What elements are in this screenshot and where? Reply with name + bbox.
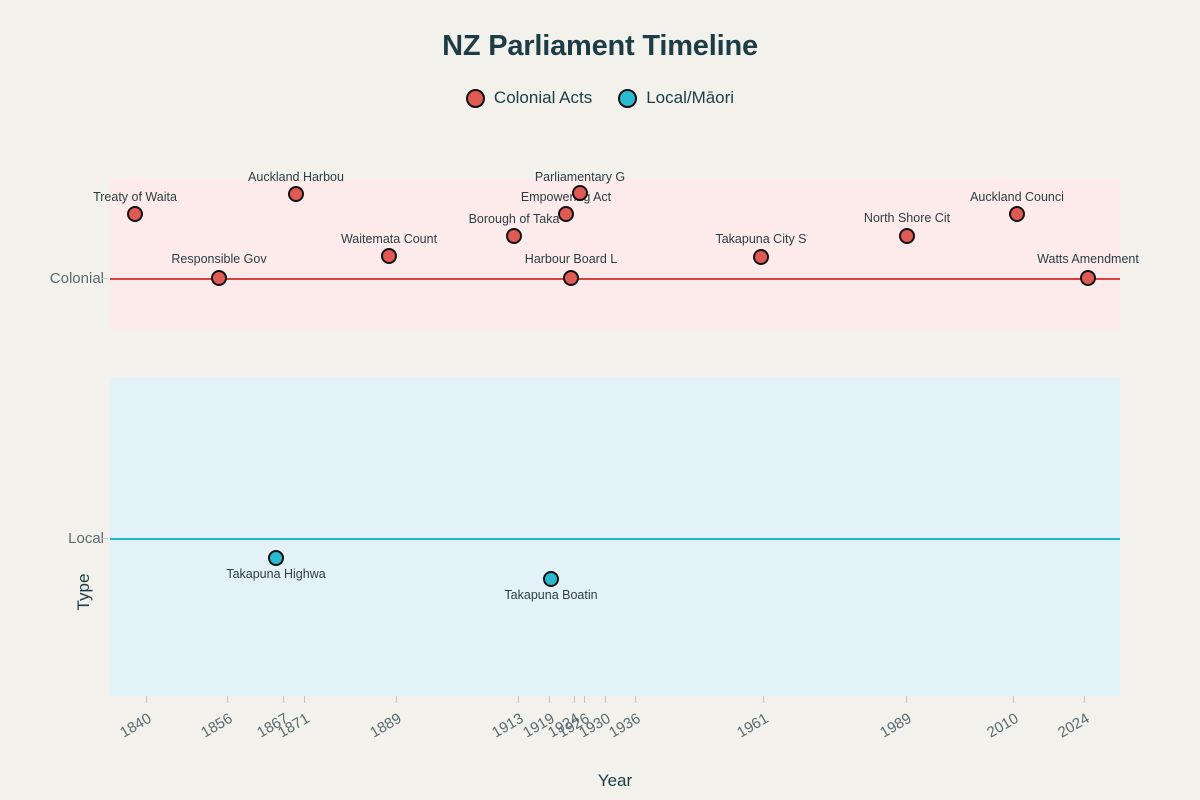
legend-swatch-colonial-acts: [466, 89, 485, 108]
data-point-label: Empowering Act: [521, 190, 611, 204]
data-point-label: Takapuna Highwa: [226, 567, 325, 581]
data-point-label: Waitemata Count: [341, 232, 437, 246]
x-tick-mark: [518, 696, 519, 703]
data-point-label: Watts Amendment: [1037, 252, 1139, 266]
data-point-label: Borough of Taka: [469, 212, 560, 226]
data-point[interactable]: [558, 206, 574, 222]
x-tick-label: 1989: [868, 710, 915, 747]
chart-figure: NZ Parliament Timeline Colonial Acts Loc…: [0, 0, 1200, 800]
x-tick-label: 1889: [358, 710, 405, 747]
x-tick-mark: [283, 696, 284, 703]
y-tick-label-colonial: Colonial: [50, 270, 104, 287]
y-tick-label-local: Local: [68, 530, 104, 547]
legend-label-local-maori: Local/Māori: [646, 88, 734, 108]
legend-item-colonial-acts[interactable]: Colonial Acts: [466, 88, 592, 108]
data-point-label: Takapuna Boatin: [504, 588, 597, 602]
data-point[interactable]: [1009, 206, 1025, 222]
data-point[interactable]: [572, 185, 588, 201]
band-local: [110, 378, 1120, 696]
data-point[interactable]: [753, 249, 769, 265]
data-point-label: Parliamentary G: [535, 170, 625, 184]
x-tick-mark: [605, 696, 606, 703]
data-point[interactable]: [1080, 270, 1096, 286]
data-point-label: Responsible Gov: [171, 252, 266, 266]
x-tick-label: 2024: [1046, 710, 1093, 747]
data-point-label: Takapuna City S: [715, 232, 806, 246]
data-point[interactable]: [543, 571, 559, 587]
data-point[interactable]: [288, 186, 304, 202]
x-tick-label: 1961: [725, 710, 772, 747]
x-tick-mark: [304, 696, 305, 703]
data-point-label: Auckland Harbou: [248, 170, 344, 184]
x-tick-mark: [1013, 696, 1014, 703]
x-tick-label: 1840: [108, 710, 155, 747]
x-tick-mark: [146, 696, 147, 703]
data-point-label: Treaty of Waita: [93, 190, 177, 204]
data-point[interactable]: [506, 228, 522, 244]
legend-swatch-local-maori: [618, 89, 637, 108]
data-point-label: North Shore Cit: [864, 211, 950, 225]
data-point[interactable]: [211, 270, 227, 286]
x-tick-mark: [1084, 696, 1085, 703]
legend-item-local-maori[interactable]: Local/Māori: [618, 88, 734, 108]
x-tick-label: 1856: [189, 710, 236, 747]
data-point[interactable]: [381, 248, 397, 264]
x-tick-mark: [763, 696, 764, 703]
data-point-label: Harbour Board L: [525, 252, 617, 266]
x-tick-mark: [635, 696, 636, 703]
x-tick-mark: [549, 696, 550, 703]
plot-area: Type Colonial Local Treaty of WaitaRespo…: [110, 178, 1120, 696]
x-tick-mark: [584, 696, 585, 703]
y-axis-label: Type: [74, 532, 94, 652]
x-tick-mark: [574, 696, 575, 703]
y-tick-dash-colonial: [102, 278, 108, 279]
data-point[interactable]: [127, 206, 143, 222]
data-point[interactable]: [268, 550, 284, 566]
baseline-local: [110, 538, 1120, 540]
chart-title: NZ Parliament Timeline: [0, 30, 1200, 63]
data-point-label: Auckland Counci: [970, 190, 1064, 204]
x-axis-label: Year: [110, 771, 1120, 791]
legend-label-colonial-acts: Colonial Acts: [494, 88, 592, 108]
x-tick-mark: [227, 696, 228, 703]
baseline-colonial: [110, 278, 1120, 280]
chart-legend: Colonial Acts Local/Māori: [0, 88, 1200, 108]
x-tick-mark: [396, 696, 397, 703]
x-tick-label: 2010: [975, 710, 1022, 747]
data-point[interactable]: [899, 228, 915, 244]
data-point[interactable]: [563, 270, 579, 286]
y-tick-dash-local: [102, 538, 108, 539]
x-tick-mark: [906, 696, 907, 703]
